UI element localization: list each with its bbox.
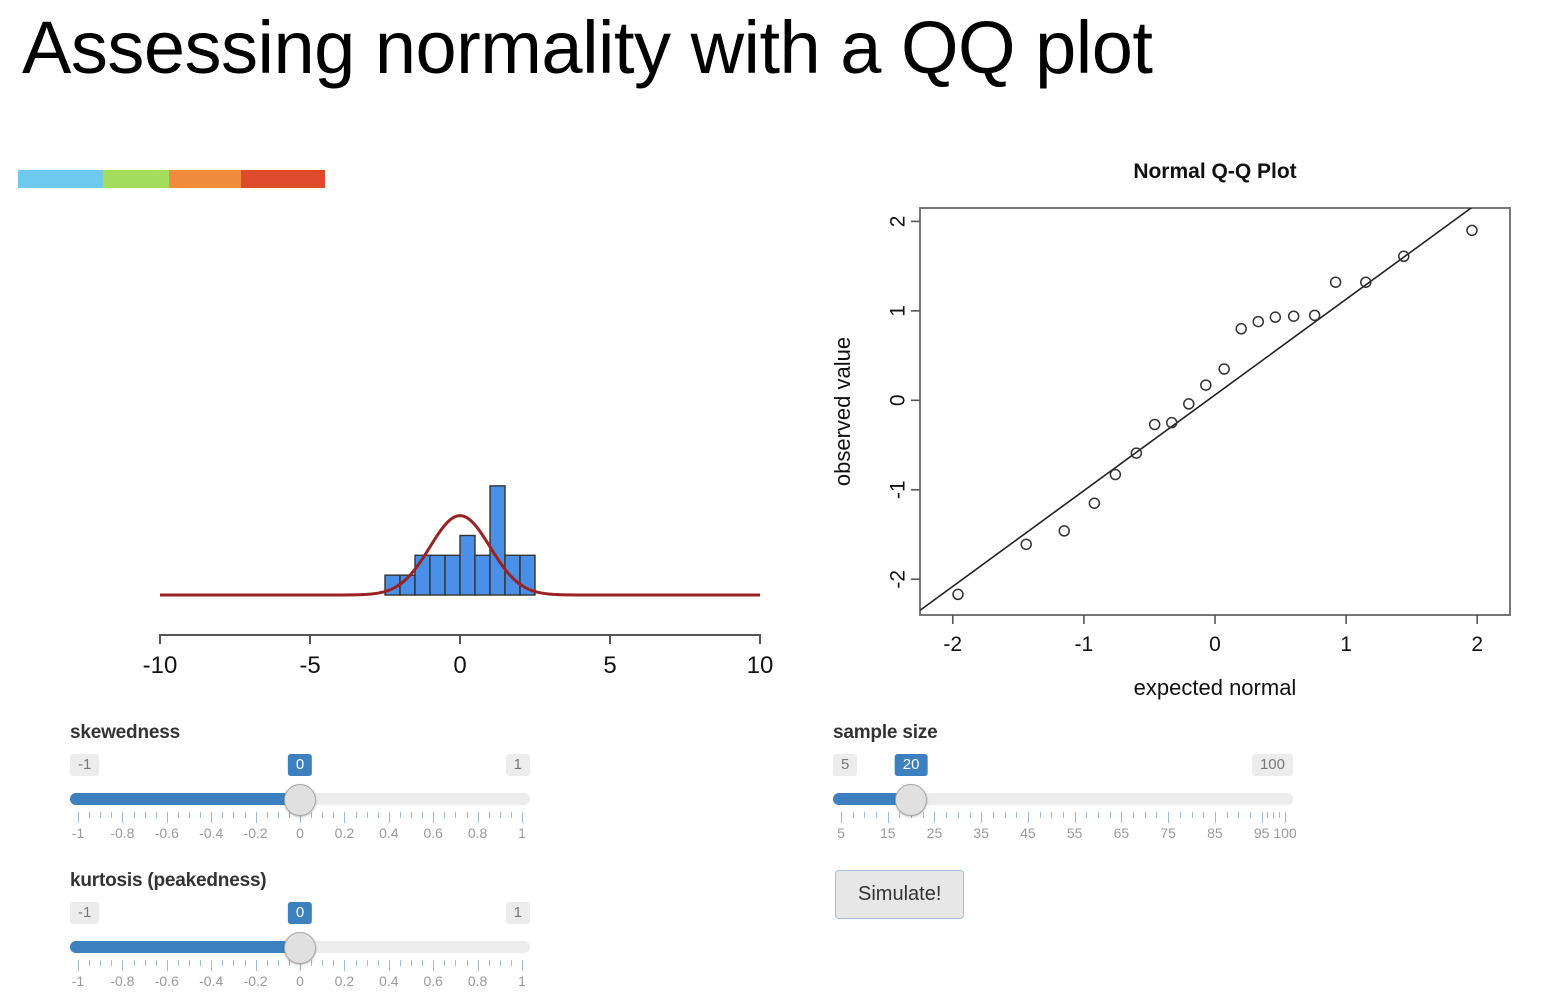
qq-point [1236,324,1246,334]
sample-size-tick-minor [1273,812,1274,818]
sample-size-tick-major [888,812,889,823]
sample-size-tick-major [841,812,842,823]
sample-size-track-wrap[interactable] [833,788,1293,810]
sample-size-tick-minor [1110,812,1111,818]
skewedness-tick-minor [89,812,90,818]
skewedness-tick-major [478,812,479,823]
page-title: Assessing normality with a QQ plot [22,8,1152,88]
kurtosis-tick-minor [311,960,312,966]
kurtosis-tick-label: 0.8 [468,973,487,989]
qq-reference-line [920,180,1510,611]
sample-size-tick-minor [1133,812,1134,818]
sample-size-tick-label: 85 [1207,825,1223,841]
sample-size-tick-minor [1145,812,1146,818]
kurtosis-track-wrap[interactable] [70,936,530,958]
kurtosis-tick-minor [367,960,368,966]
kurtosis-tick-minor [444,960,445,966]
skewedness-tick-minor [489,812,490,818]
kurtosis-tick-minor [89,960,90,966]
kurtosis-tick-major [478,960,479,971]
skewedness-tick-label: -0.2 [244,825,268,841]
sample-size-tick-minor [1238,812,1239,818]
skewedness-tick-minor [356,812,357,818]
qq-x-tick-label: 2 [1471,633,1483,656]
histogram-plot: -10-50510 [20,210,780,680]
qq-y-tick-label: -1 [887,480,910,499]
skewedness-label: skewedness [70,722,530,744]
x-axis-tick-label: 0 [453,652,466,679]
skewedness-tick-minor [222,812,223,818]
skewedness-handle[interactable] [284,784,316,816]
sample-size-tick-minor [1051,812,1052,818]
skewedness-value-bubble: 0 [288,754,312,776]
skewedness-tick-minor [178,812,179,818]
skewedness-tick-major [211,812,212,823]
sample-size-tick-label: 75 [1160,825,1176,841]
skewedness-min-label: -1 [70,754,99,776]
qq-y-tick-label: 1 [887,305,910,317]
kurtosis-tick-label: 0.4 [379,973,398,989]
kurtosis-tick-minor [400,960,401,966]
x-axis-tick-label: -5 [299,652,320,679]
x-axis-tick-label: 5 [603,652,616,679]
skewedness-tick-minor [111,812,112,818]
histogram-bar [505,555,520,595]
kurtosis-slider[interactable]: -1 0 1 -1-0.8-0.6-0.4-0.200.20.40.60.81 [70,902,530,993]
simulate-button[interactable]: Simulate! [835,870,964,919]
skewedness-tick-label: 0.8 [468,825,487,841]
sample-size-tick-minor [958,812,959,818]
kurtosis-value-bubble: 0 [288,902,312,924]
skewedness-tick-label: -1 [72,825,84,841]
qq-y-tick-label: -2 [887,570,910,589]
sample-size-tick-major [981,812,982,823]
skewedness-tick-label: -0.6 [155,825,179,841]
skewedness-tick-minor [100,812,101,818]
kurtosis-tick-minor [278,960,279,966]
sample-size-tick-major [1075,812,1076,823]
x-axis-tick-label: -10 [143,652,178,679]
kurtosis-tick-minor [411,960,412,966]
skewedness-tick-minor [311,812,312,818]
sample-size-tick-minor [946,812,947,818]
color-bar-segment-2 [103,170,169,188]
qq-point [1270,312,1280,322]
slider-group-sample-size: sample size 5 20 100 5152535455565758595… [833,722,1293,845]
sample-size-tick-minor [876,812,877,818]
kurtosis-tick-major [122,960,123,971]
skewedness-tick-label: 0.6 [423,825,442,841]
skewedness-slider[interactable]: -1 0 1 -1-0.8-0.6-0.4-0.200.20.40.60.81 [70,754,530,845]
sample-size-endcaps: 5 20 100 [833,754,1293,780]
qq-point [1184,399,1194,409]
sample-size-tick-label: 65 [1114,825,1130,841]
sample-size-tick-minor [923,812,924,818]
qq-y-axis-label: observed value [830,337,855,486]
skewedness-tick-label: -0.8 [110,825,134,841]
sample-size-tick-minor [1016,812,1017,818]
kurtosis-tick-label: -1 [72,973,84,989]
slider-group-skewedness: skewedness -1 0 1 -1-0.8-0.6-0.4-0.200.2… [70,722,530,845]
qq-x-axis-label: expected normal [1134,675,1297,700]
kurtosis-tick-minor [100,960,101,966]
kurtosis-tick-label: -0.2 [244,973,268,989]
sample-size-tick-minor [1086,812,1087,818]
sample-size-tick-minor [1098,812,1099,818]
kurtosis-endcaps: -1 0 1 [70,902,530,928]
kurtosis-tick-minor [245,960,246,966]
skewedness-tick-major [389,812,390,823]
kurtosis-tick-minor [511,960,512,966]
kurtosis-tick-label: 0.6 [423,973,442,989]
skewedness-tick-minor [467,812,468,818]
sample-size-slider[interactable]: 5 20 100 5152535455565758595100 [833,754,1293,845]
sample-size-tick-minor [1203,812,1204,818]
skewedness-tick-major [122,812,123,823]
kurtosis-tick-minor [222,960,223,966]
qq-point [1219,364,1229,374]
skewedness-tick-minor [422,812,423,818]
sample-size-tick-minor [1005,812,1006,818]
qq-x-tick-label: -2 [943,633,962,656]
qq-plot: Normal Q-Q Plot-2-1012expected normal-2-… [820,150,1532,710]
kurtosis-tick-minor [467,960,468,966]
skewedness-tick-minor [134,812,135,818]
kurtosis-tick-label: 0 [296,973,304,989]
kurtosis-handle[interactable] [284,932,316,964]
skewedness-tick-minor [278,812,279,818]
sample-size-tick-minor [1156,812,1157,818]
skewedness-fill [70,793,300,805]
qq-x-tick-label: 1 [1340,633,1352,656]
sample-size-value-bubble: 20 [895,754,928,776]
kurtosis-fill [70,941,300,953]
skewedness-tick-minor [333,812,334,818]
kurtosis-tick-minor [233,960,234,966]
sample-size-handle[interactable] [895,784,927,816]
kurtosis-tick-minor [422,960,423,966]
sample-size-label: sample size [833,722,1293,744]
kurtosis-tick-minor [111,960,112,966]
sample-size-tick-minor [1063,812,1064,818]
decorative-color-bar [18,170,340,188]
skewedness-tick-label: 0.2 [335,825,354,841]
kurtosis-tick-minor [189,960,190,966]
skewedness-tick-minor [378,812,379,818]
sample-size-tick-minor [853,812,854,818]
kurtosis-tick-minor [178,960,179,966]
qq-point [1253,317,1263,327]
skewedness-tick-minor [233,812,234,818]
sample-size-tick-minor [1192,812,1193,818]
skewedness-tick-major [167,812,168,823]
kurtosis-tick-major [256,960,257,971]
kurtosis-tick-major [433,960,434,971]
kurtosis-tick-minor [356,960,357,966]
qq-point [1110,470,1120,480]
qq-point [1467,225,1477,235]
sample-size-tick-minor [993,812,994,818]
skewedness-tick-labels: -1-0.8-0.6-0.4-0.200.20.40.60.81 [70,825,530,845]
kurtosis-tick-label: 1 [518,973,526,989]
qq-point [1310,310,1320,320]
slider-group-kurtosis: kurtosis (peakedness) -1 0 1 -1-0.8-0.6-… [70,870,530,993]
skewedness-tick-minor [444,812,445,818]
skewedness-tick-minor [322,812,323,818]
kurtosis-tick-minor [145,960,146,966]
skewedness-track-wrap[interactable] [70,788,530,810]
kurtosis-tick-major [344,960,345,971]
sample-size-tick-minor [864,812,865,818]
kurtosis-tick-label: -0.8 [110,973,134,989]
kurtosis-tick-minor [267,960,268,966]
qq-x-tick-label: -1 [1075,633,1094,656]
sample-size-tick-label: 25 [927,825,943,841]
histogram-bar [475,555,490,595]
kurtosis-tick-minor [333,960,334,966]
qq-y-tick-label: 2 [887,216,910,228]
sample-size-min-label: 5 [833,754,857,776]
sample-size-tick-minor [970,812,971,818]
histogram-bar [430,555,445,595]
kurtosis-tick-major [211,960,212,971]
qq-point [1289,311,1299,321]
sample-size-tick-label: 95 [1254,825,1270,841]
sample-size-tick-major [1168,812,1169,823]
skewedness-tick-minor [367,812,368,818]
kurtosis-tick-major [389,960,390,971]
sample-size-tick-label: 45 [1020,825,1036,841]
skewedness-tick-minor [411,812,412,818]
skewedness-tick-minor [500,812,501,818]
qq-x-tick-label: 0 [1209,633,1221,656]
kurtosis-tick-minor [489,960,490,966]
skewedness-tick-label: 1 [518,825,526,841]
sample-size-tick-minor [1227,812,1228,818]
skewedness-endcaps: -1 0 1 [70,754,530,780]
skewedness-tick-minor [245,812,246,818]
skewedness-tick-minor [455,812,456,818]
kurtosis-tick-label: -0.6 [155,973,179,989]
x-axis-tick-label: 10 [747,652,774,679]
kurtosis-tick-label: -0.4 [199,973,223,989]
kurtosis-tick-minor [455,960,456,966]
kurtosis-label: kurtosis (peakedness) [70,870,530,892]
kurtosis-tick-major [522,960,523,971]
sample-size-tick-label: 35 [973,825,989,841]
kurtosis-tick-minor [378,960,379,966]
kurtosis-min-label: -1 [70,902,99,924]
sample-size-tick-minor [899,812,900,818]
skewedness-tick-major [256,812,257,823]
skewedness-tick-major [522,812,523,823]
histogram-svg: -10-50510 [20,210,780,680]
color-bar-segment-4 [241,170,325,188]
sample-size-tick-major [1262,812,1263,823]
sample-size-tick-major [1285,812,1286,823]
sample-size-max-label: 100 [1252,754,1293,776]
skewedness-tick-minor [267,812,268,818]
sample-size-tick-major [1121,812,1122,823]
qq-point [1059,526,1069,536]
sample-size-tick-major [934,812,935,823]
kurtosis-tick-major [78,960,79,971]
kurtosis-tick-minor [500,960,501,966]
skewedness-tick-label: 0 [296,825,304,841]
skewedness-tick-label: -0.4 [199,825,223,841]
sample-size-tick-label: 55 [1067,825,1083,841]
color-bar-segment-1 [18,170,103,188]
kurtosis-tick-labels: -1-0.8-0.6-0.4-0.200.20.40.60.81 [70,973,530,993]
skewedness-tick-minor [189,812,190,818]
skewedness-tick-minor [145,812,146,818]
qq-point [1150,419,1160,429]
skewedness-tick-minor [156,812,157,818]
kurtosis-max-label: 1 [506,902,530,924]
histogram-bar [460,535,475,595]
sample-size-tick-label: 15 [880,825,896,841]
sample-size-tick-label: 100 [1273,825,1296,841]
sample-size-tick-major [1028,812,1029,823]
qq-point [1201,380,1211,390]
sample-size-tick-minor [1180,812,1181,818]
skewedness-tick-label: 0.4 [379,825,398,841]
sample-size-tick-minor [1267,812,1268,818]
qq-plot-title: Normal Q-Q Plot [1133,160,1296,183]
skewedness-max-label: 1 [506,754,530,776]
histogram-x-axis: -10-50510 [143,635,774,679]
color-bar-segment-3 [169,170,241,188]
qq-point [1089,498,1099,508]
qq-point [1331,277,1341,287]
qq-points [953,225,1477,599]
kurtosis-tick-major [167,960,168,971]
skewedness-tick-major [433,812,434,823]
kurtosis-tick-minor [134,960,135,966]
qq-plot-svg: Normal Q-Q Plot-2-1012expected normal-2-… [820,150,1532,710]
skewedness-tick-minor [511,812,512,818]
qq-plot-box [920,208,1510,615]
histogram-bar [445,555,460,595]
qq-reference-line-group [920,180,1510,611]
sample-size-tick-label: 5 [837,825,845,841]
qq-y-tick-label: 0 [887,394,910,406]
qq-point [1021,539,1031,549]
sample-size-tick-minor [1040,812,1041,818]
skewedness-tick-minor [200,812,201,818]
histogram-bar [490,486,505,595]
kurtosis-tick-minor [156,960,157,966]
skewedness-tick-major [344,812,345,823]
skewedness-tick-major [78,812,79,823]
sample-size-tick-labels: 5152535455565758595100 [833,825,1293,845]
sample-size-tick-minor [1279,812,1280,818]
kurtosis-tick-minor [200,960,201,966]
qq-point [953,589,963,599]
kurtosis-tick-label: 0.2 [335,973,354,989]
kurtosis-tick-minor [322,960,323,966]
sample-size-tick-major [1215,812,1216,823]
sample-size-tick-minor [1250,812,1251,818]
skewedness-tick-minor [400,812,401,818]
